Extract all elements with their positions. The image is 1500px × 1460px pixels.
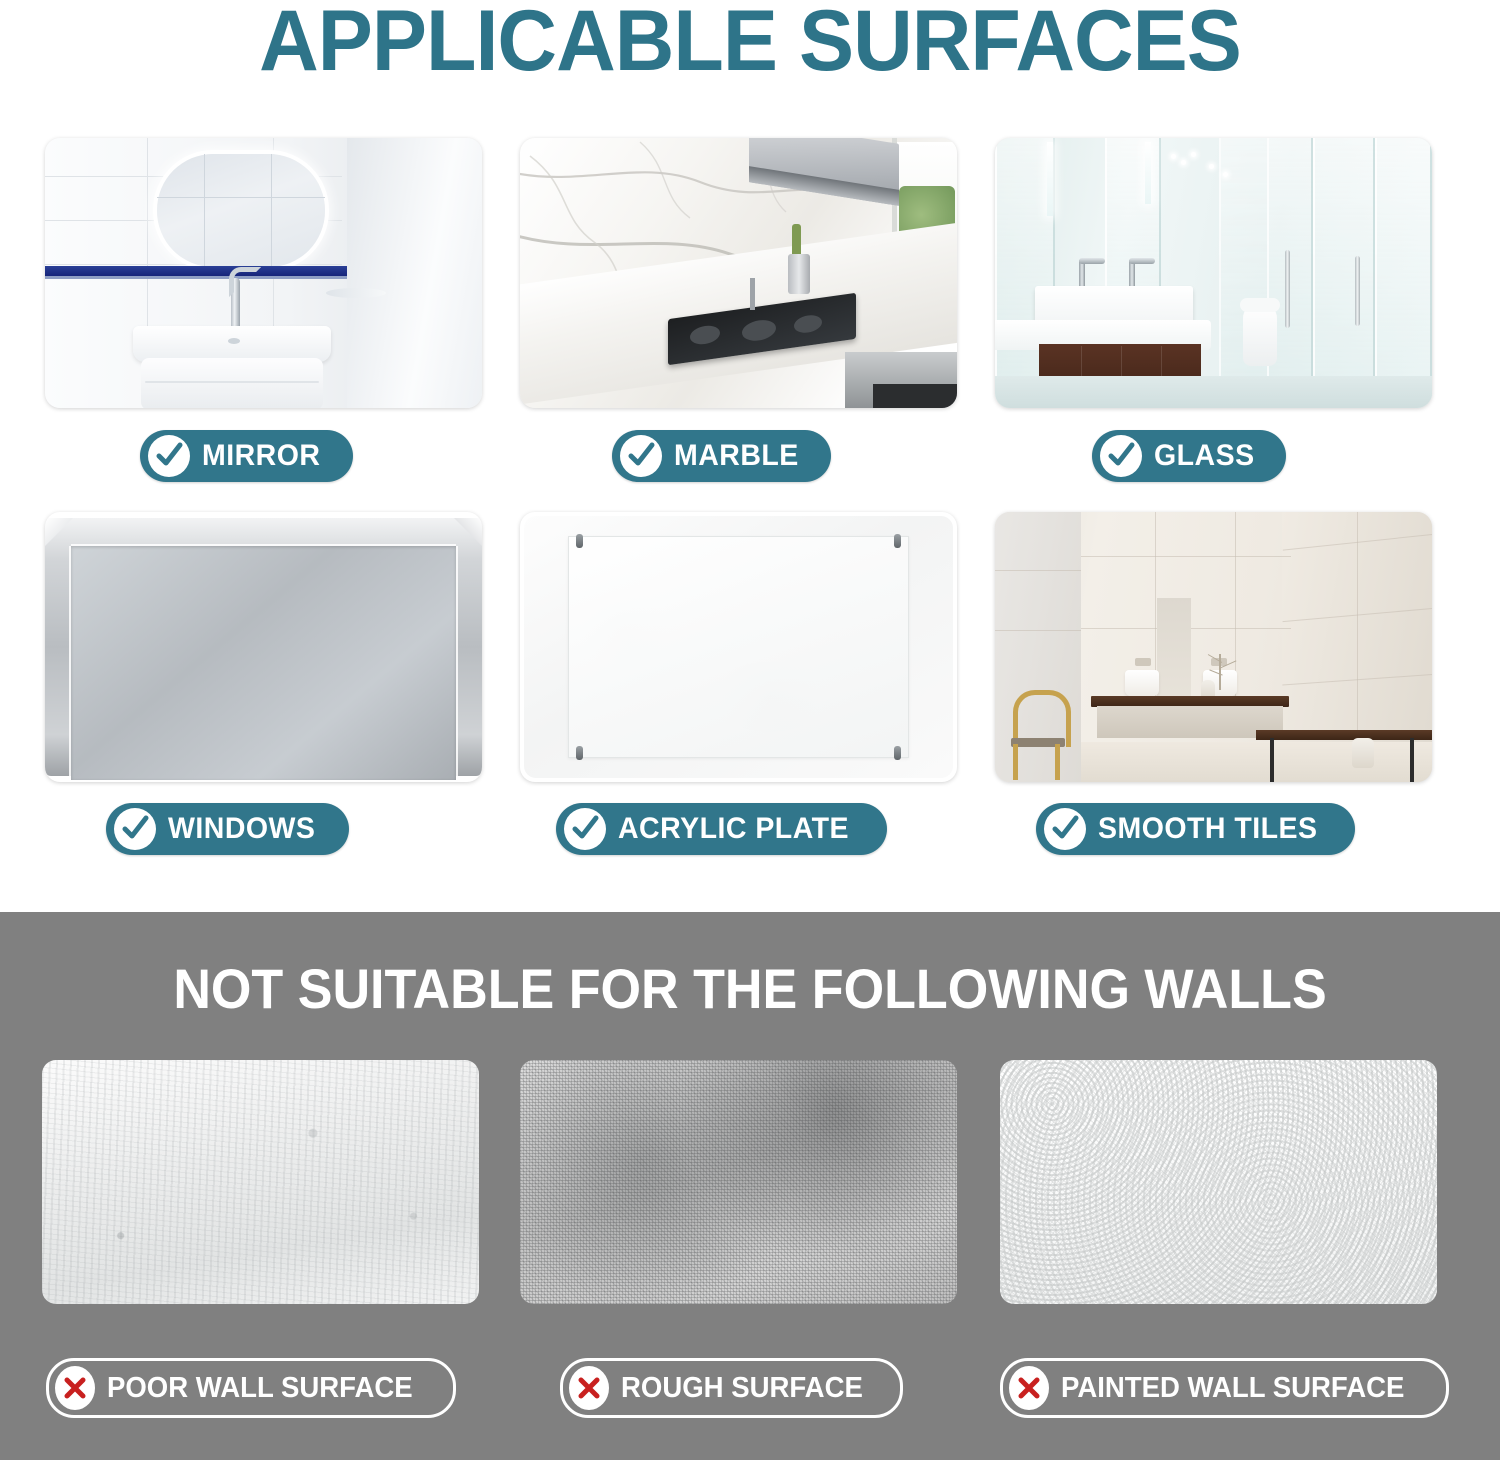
surface-label-mirror[interactable]: MIRROR (140, 430, 353, 482)
bathroom-mirror-photo (45, 138, 482, 408)
painted-wall-texture (1000, 1060, 1437, 1304)
check-icon (1044, 808, 1086, 850)
surface-card-mirror[interactable] (45, 138, 482, 408)
surface-label-glass[interactable]: GLASS (1092, 430, 1286, 482)
surface-label-smooth-tiles[interactable]: SMOOTH TILES (1036, 803, 1355, 855)
surface-label-text: GLASS (1154, 439, 1255, 473)
surface-label-acrylic[interactable]: ACRYLIC PLATE (556, 803, 887, 855)
aluminium-window-photo (45, 512, 482, 782)
console-table (1256, 724, 1432, 782)
page-title: APPLICABLE SURFACES (30, 0, 1470, 86)
unsuitable-card-painted[interactable] (1000, 1060, 1437, 1304)
surface-card-acrylic[interactable] (520, 512, 957, 782)
check-icon (148, 435, 190, 477)
surface-label-text: SMOOTH TILES (1098, 812, 1317, 846)
photo-row-2 (0, 512, 1500, 782)
unsuitable-label-poor-wall[interactable]: POOR WALL SURFACE (46, 1358, 456, 1418)
cross-icon (1009, 1366, 1049, 1410)
unsuitable-label-text: POOR WALL SURFACE (107, 1372, 413, 1405)
unsuitable-label-rough[interactable]: ROUGH SURFACE (560, 1358, 903, 1418)
check-icon (620, 435, 662, 477)
surface-label-text: MIRROR (202, 439, 320, 473)
unsuitable-card-poor-wall[interactable] (42, 1060, 479, 1304)
glass-shower-photo (995, 138, 1432, 408)
surface-card-marble[interactable] (520, 138, 957, 408)
applicable-surfaces-section: APPLICABLE SURFACES (0, 0, 1500, 912)
cross-icon (569, 1366, 609, 1410)
check-icon (114, 808, 156, 850)
surface-card-smooth-tiles[interactable] (995, 512, 1432, 782)
rough-surface-texture (520, 1060, 957, 1304)
label-row-1: MIRROR MARBLE GLASS (0, 430, 1500, 494)
unsuitable-label-text: ROUGH SURFACE (621, 1372, 863, 1405)
check-icon (1100, 435, 1142, 477)
unsuitable-card-rough[interactable] (520, 1060, 957, 1304)
unsuitable-label-text: PAINTED WALL SURFACE (1061, 1372, 1404, 1405)
check-icon (564, 808, 606, 850)
marble-kitchen-photo (520, 138, 957, 408)
surface-label-marble[interactable]: MARBLE (612, 430, 831, 482)
smooth-tiles-photo (995, 512, 1432, 782)
not-suitable-section: NOT SUITABLE FOR THE FOLLOWING WALLS POO… (0, 912, 1500, 1460)
poor-wall-texture (42, 1060, 479, 1304)
surface-label-text: MARBLE (674, 439, 799, 473)
not-suitable-title: NOT SUITABLE FOR THE FOLLOWING WALLS (53, 956, 1448, 1021)
surface-card-windows[interactable] (45, 512, 482, 782)
cross-icon (55, 1366, 95, 1410)
surface-label-windows[interactable]: WINDOWS (106, 803, 349, 855)
surface-label-text: ACRYLIC PLATE (618, 812, 849, 846)
unsuitable-label-painted[interactable]: PAINTED WALL SURFACE (1000, 1358, 1449, 1418)
gold-chair (1009, 690, 1067, 780)
acrylic-plate-photo (520, 512, 957, 782)
surface-label-text: WINDOWS (168, 812, 315, 846)
label-row-2: WINDOWS ACRYLIC PLATE SMOOTH TILES (0, 803, 1500, 867)
photo-row-1 (0, 138, 1500, 408)
surface-card-glass[interactable] (995, 138, 1432, 408)
